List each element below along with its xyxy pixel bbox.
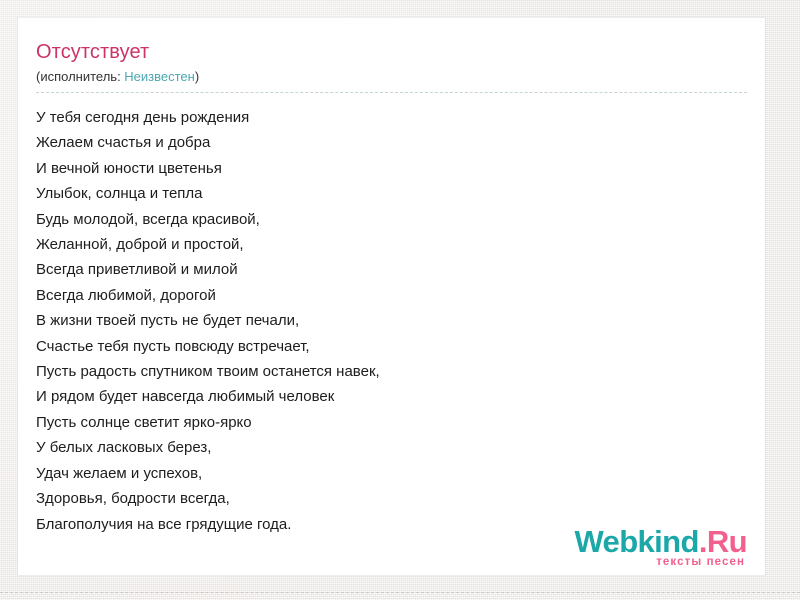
lyric-line: Желанной, доброй и простой, (36, 232, 765, 257)
song-content-panel: Отсутствует (исполнитель: Неизвестен) У … (18, 18, 765, 575)
lyric-line: У белых ласковых берез, (36, 435, 765, 460)
artist-label-prefix: (исполнитель: (36, 69, 124, 84)
artist-line: (исполнитель: Неизвестен) (36, 68, 765, 85)
lyric-line: Удач желаем и успехов, (36, 461, 765, 486)
lyric-line: Всегда любимой, дорогой (36, 283, 765, 308)
artist-label-suffix: ) (195, 69, 199, 84)
lyric-line: И рядом будет навсегда любимый человек (36, 384, 765, 409)
logo-wordmark: Webkind.Ru (574, 526, 747, 558)
page-bottom-divider (0, 592, 800, 594)
lyric-line: Желаем счастья и добра (36, 130, 765, 155)
song-header: Отсутствует (исполнитель: Неизвестен) (18, 18, 765, 85)
artist-link[interactable]: Неизвестен (124, 69, 195, 84)
lyric-line: В жизни твоей пусть не будет печали, (36, 308, 765, 333)
lyric-line: Пусть солнце светит ярко-ярко (36, 410, 765, 435)
site-logo[interactable]: Webkind.Ru тексты песен (574, 526, 747, 569)
lyrics-body: У тебя сегодня день рождения Желаем счас… (18, 93, 765, 537)
lyric-line: Здоровья, бодрости всегда, (36, 486, 765, 511)
logo-tld-text: .Ru (699, 524, 747, 559)
lyric-line: И вечной юности цветенья (36, 156, 765, 181)
page-title: Отсутствует (36, 40, 765, 64)
lyric-line: У тебя сегодня день рождения (36, 105, 765, 130)
lyric-line: Будь молодой, всегда красивой, (36, 207, 765, 232)
lyric-line: Всегда приветливой и милой (36, 257, 765, 282)
logo-name-text: Webkind (574, 524, 698, 559)
lyric-line: Счастье тебя пусть повсюду встречает, (36, 334, 765, 359)
lyric-line: Пусть радость спутником твоим останется … (36, 359, 765, 384)
lyric-line: Улыбок, солнца и тепла (36, 181, 765, 206)
